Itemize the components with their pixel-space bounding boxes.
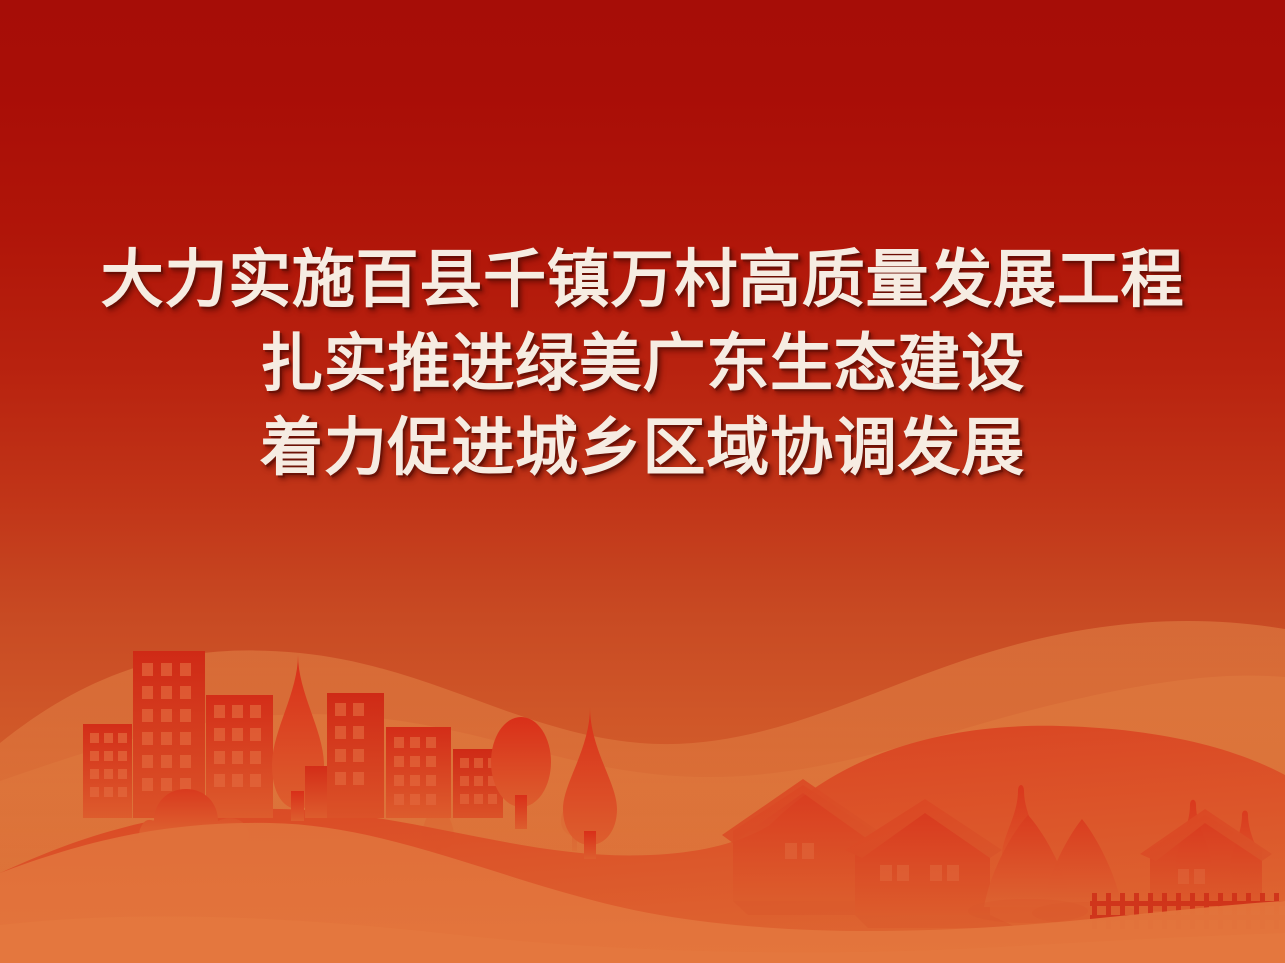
city-tree-oval [491, 717, 551, 807]
city-pillar [305, 766, 327, 818]
city-building-1 [83, 724, 132, 818]
urban-rural-landscape-illustration [0, 543, 1285, 963]
slogan-line-1: 大力实施百县千镇万村高质量发展工程 [0, 248, 1285, 311]
city-building-5 [386, 727, 451, 818]
slogan-line-3: 着力促进城乡区域协调发展 [0, 416, 1285, 479]
slogan-line-2: 扎实推进绿美广东生态建设 [0, 332, 1285, 395]
city-building-3 [206, 695, 273, 818]
city-building-4 [327, 693, 384, 818]
slogan-title-block: 大力实施百县千镇万村高质量发展工程 扎实推进绿美广东生态建设 着力促进城乡区域协… [0, 248, 1285, 479]
slogan-slide: 大力实施百县千镇万村高质量发展工程 扎实推进绿美广东生态建设 着力促进城乡区域协… [0, 0, 1285, 963]
